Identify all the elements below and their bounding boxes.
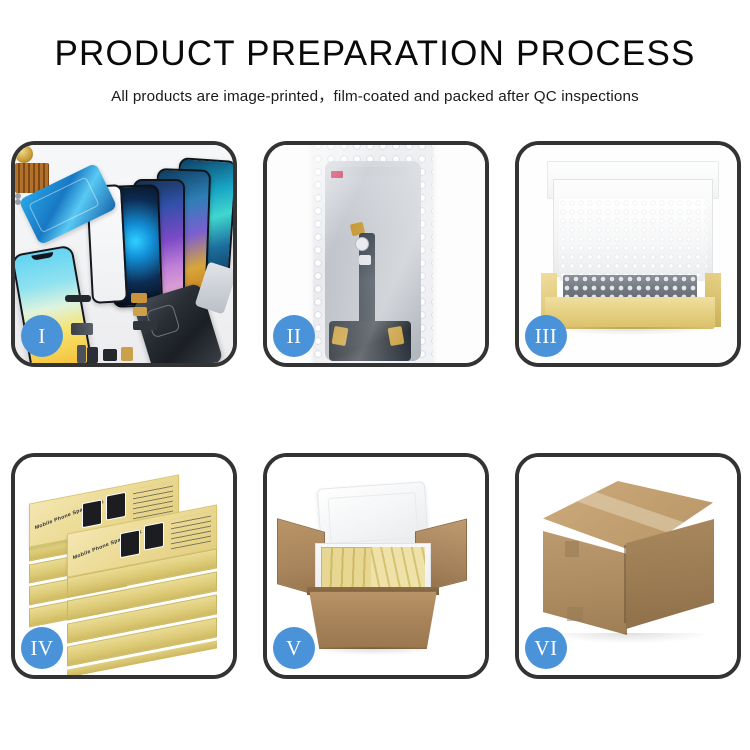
step-panel-5: V <box>263 453 489 679</box>
carton-vertical-seam <box>624 545 626 623</box>
sim-tray-part <box>87 347 98 363</box>
page-title: PRODUCT PREPARATION PROCESS <box>0 33 750 75</box>
box-front-wall <box>545 297 715 329</box>
yellow-boxes-row-b <box>371 547 425 591</box>
box-shadow <box>549 327 713 335</box>
product-preparation-infographic: PRODUCT PREPARATION PROCESS All products… <box>0 0 750 750</box>
camera-module-part <box>71 323 93 335</box>
carton-tape-patch-lower <box>567 607 583 621</box>
carton-front-wall <box>309 591 437 649</box>
flex-cable-part-a <box>131 293 147 303</box>
step-badge-1: I <box>21 315 63 357</box>
box-screen-image-b <box>106 492 126 521</box>
process-step-grid: I II <box>11 141 742 679</box>
step-panel-4: Mobile Phone Spare Parts Mobile Phone Sp… <box>11 453 237 679</box>
box-screen-image-c <box>120 529 140 558</box>
button-flex-part <box>77 345 86 363</box>
page-subtitle: All products are image-printed，film-coat… <box>0 84 750 106</box>
step-badge-5: V <box>273 627 315 669</box>
carton-tape-patch-upper <box>565 541 579 557</box>
step-panel-1: I <box>11 141 237 367</box>
box-screen-image-a <box>82 499 102 528</box>
battery-connector-part <box>121 347 133 361</box>
white-foam-sheet <box>559 199 707 281</box>
speaker-part <box>103 349 117 361</box>
box-spec-lines-second <box>171 512 211 550</box>
step-panel-3: III <box>515 141 741 367</box>
step-panel-2: II <box>263 141 489 367</box>
copper-coil-part <box>15 145 33 163</box>
carton-left-face <box>543 531 627 635</box>
box-screen-image-d <box>144 522 164 551</box>
step-badge-2: II <box>273 315 315 357</box>
antenna-part <box>133 321 157 330</box>
step-badge-4: IV <box>21 627 63 669</box>
step-badge-3: III <box>525 315 567 357</box>
wrap-gloss-highlight <box>313 145 433 363</box>
step-badge-6: VI <box>525 627 567 669</box>
earpiece-part <box>65 295 91 302</box>
carton-shadow <box>311 647 435 655</box>
flex-cable-part-b <box>133 307 147 316</box>
header: PRODUCT PREPARATION PROCESS All products… <box>0 33 750 106</box>
step-panel-6: VI <box>515 453 741 679</box>
carton-shadow <box>549 633 709 643</box>
